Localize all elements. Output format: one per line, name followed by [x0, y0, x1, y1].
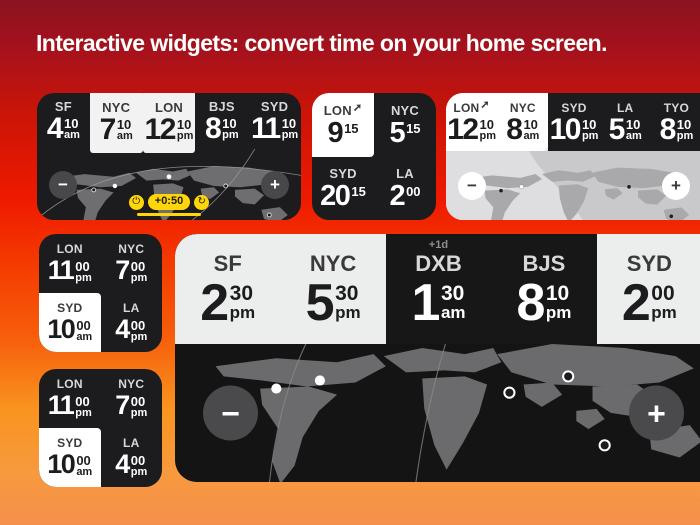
- meridiem-value: am: [523, 131, 539, 142]
- minute-value: 10: [546, 283, 569, 304]
- meridiem-value: pm: [546, 304, 572, 321]
- city-code: DXB: [415, 253, 461, 275]
- meridiem-value: pm: [582, 131, 599, 142]
- minute-value: 10: [582, 118, 596, 131]
- city-code-with-arrow: LON ➚: [453, 102, 489, 114]
- city-time: 11 10 pm: [251, 116, 298, 142]
- city-cell-tyo[interactable]: TYO 8 10 pm: [651, 93, 700, 151]
- hour-value: 5: [389, 121, 404, 146]
- city-code: LON: [324, 104, 352, 117]
- city-code: SYD: [57, 302, 82, 314]
- hour-value: 4: [47, 116, 62, 142]
- meridiem-value: pm: [177, 131, 194, 142]
- world-map-zone: − +: [175, 344, 700, 482]
- minute-value: 00: [406, 185, 420, 198]
- city-time: 5 15: [389, 121, 420, 146]
- city-cell-lon-selected[interactable]: LON 12 10 pm: [143, 93, 196, 153]
- hour-value: 8: [660, 117, 675, 143]
- hour-value: 4: [115, 453, 129, 476]
- hour-value: 8: [516, 281, 542, 326]
- hour-value: 7: [100, 117, 115, 143]
- hour-value: 5: [306, 281, 332, 326]
- city-code: SYD: [57, 437, 82, 449]
- hour-value: 2: [200, 281, 226, 326]
- hour-value: 2: [389, 184, 404, 209]
- city-cell-nyc-selected[interactable]: NYC 8 10 am: [497, 93, 548, 151]
- city-time: 7 00 pm: [115, 394, 147, 419]
- meridiem-value: pm: [75, 273, 92, 284]
- meridiem-value: am: [64, 130, 80, 141]
- world-map-zone: − + ⏻ +0:50 ↻: [37, 149, 301, 220]
- city-cell-syd[interactable]: SYD 2 00 pm: [597, 234, 700, 344]
- city-strip: SF 2 30 pm NYC 5 30 pm +1d DXB: [175, 234, 700, 344]
- meridiem-value: pm: [75, 408, 92, 419]
- city-code-with-arrow: LON ➚: [324, 104, 362, 117]
- meridiem-value: pm: [230, 304, 256, 321]
- widget-world-clock-wide-light[interactable]: LON ➚ 12 10 pm NYC 8 10 am SYD: [446, 93, 700, 220]
- city-strip: SF 4 10 am NYC 7 10 am LON 12: [37, 93, 301, 149]
- meridiem-value: pm: [677, 131, 694, 142]
- city-code: LON: [57, 378, 83, 390]
- city-code: LON: [453, 102, 479, 114]
- city-code: NYC: [118, 378, 144, 390]
- city-cell-syd[interactable]: SYD 20 15: [312, 157, 374, 221]
- time-offset-badge[interactable]: +0:50: [148, 194, 190, 210]
- city-code: NYC: [391, 104, 419, 117]
- city-code: BJS: [523, 253, 566, 275]
- city-time: 2 30 pm: [200, 281, 255, 326]
- city-time: 8 10 am: [506, 117, 539, 143]
- timer-control-row[interactable]: ⏻ +0:50 ↻: [37, 194, 301, 210]
- minute-value: 10: [677, 118, 691, 131]
- city-code: LA: [123, 302, 139, 314]
- minute-value: 00: [651, 283, 674, 304]
- city-time: 10 10 pm: [550, 117, 599, 143]
- widget-world-clock-wide-dark[interactable]: SF 4 10 am NYC 7 10 am LON 12: [37, 93, 301, 220]
- city-code: SYD: [329, 167, 356, 180]
- city-code: TYO: [664, 102, 689, 114]
- city-cell-syd[interactable]: SYD 11 10 pm: [248, 93, 301, 149]
- minute-value: 10: [480, 118, 494, 131]
- meridiem-value: pm: [335, 304, 361, 321]
- city-code: LA: [396, 167, 414, 180]
- hour-value: 10: [47, 318, 74, 341]
- widget-world-clock-large[interactable]: SF 2 30 pm NYC 5 30 pm +1d DXB: [175, 234, 700, 482]
- hour-value: 1: [412, 281, 438, 326]
- city-time: 12 10 pm: [447, 117, 496, 143]
- city-time: 10 00 am: [47, 318, 92, 343]
- widget-world-clock-small-dark[interactable]: LON ➚ 9 15 NYC 5 15 SYD 20 15 LA 2 00: [312, 93, 436, 220]
- city-time: 11 00 pm: [48, 394, 92, 419]
- city-cell-sf[interactable]: SF 4 10 am: [37, 93, 90, 149]
- city-code: LA: [123, 437, 139, 449]
- meridiem-value: pm: [651, 304, 677, 321]
- city-time: 1 30 am: [412, 281, 466, 326]
- city-cell-la[interactable]: LA 2 00: [374, 157, 436, 221]
- city-code: LON: [57, 243, 83, 255]
- city-code: LA: [617, 102, 633, 114]
- increment-button[interactable]: +: [662, 172, 690, 200]
- world-map-zone: − +: [446, 151, 700, 220]
- city-code: SYD: [561, 102, 586, 114]
- city-cell-bjs[interactable]: BJS 8 10 pm: [491, 234, 596, 344]
- city-time: 4 00 pm: [115, 453, 147, 478]
- city-time: 2 00: [389, 184, 420, 209]
- city-cell-syd-selected[interactable]: SYD 10 00 am: [39, 293, 101, 352]
- hour-value: 11: [48, 259, 74, 282]
- minute-value: 30: [441, 283, 464, 304]
- hour-value: 2: [622, 281, 648, 326]
- timer-progress-bar: [137, 213, 201, 216]
- city-time: 10 00 am: [47, 453, 92, 478]
- power-icon[interactable]: ⏻: [129, 195, 144, 210]
- hour-value: 5: [609, 117, 624, 143]
- city-time: 8 10 pm: [205, 116, 239, 142]
- hour-value: 11: [251, 116, 280, 142]
- city-time: 5 30 pm: [306, 281, 361, 326]
- city-cell-nyc[interactable]: NYC 7 00 pm: [101, 234, 163, 293]
- city-cell-dxb[interactable]: +1d DXB 1 30 am: [386, 234, 491, 344]
- hour-value: 10: [550, 117, 580, 143]
- city-cell-nyc[interactable]: NYC 5 30 pm: [280, 234, 385, 344]
- location-arrow-icon: ➚: [353, 103, 362, 114]
- meridiem-value: pm: [131, 273, 148, 284]
- reset-icon[interactable]: ↻: [194, 195, 209, 210]
- city-time: 11 00 pm: [48, 259, 92, 284]
- hour-value: 11: [48, 394, 74, 417]
- city-cell-nyc[interactable]: NYC 7 00 pm: [101, 369, 163, 428]
- city-time: 8 10 pm: [516, 281, 571, 326]
- meridiem-value: pm: [131, 408, 148, 419]
- city-cell-la[interactable]: LA 5 10 am: [600, 93, 651, 151]
- minute-value: 15: [406, 122, 420, 135]
- city-time: 7 10 am: [100, 117, 133, 143]
- city-time: 4 00 pm: [115, 318, 147, 343]
- city-time: 8 10 pm: [660, 117, 694, 143]
- city-cell-syd[interactable]: SYD 10 10 pm: [548, 93, 599, 151]
- widget-world-clock-small-stacked-bottom[interactable]: LON 11 00 pm NYC 7 00 pm SYD 10 00 am: [39, 369, 162, 487]
- city-cell-syd-selected[interactable]: SYD 10 00 am: [39, 428, 101, 487]
- city-time: 4 10 am: [47, 116, 80, 142]
- city-time: 12 10 pm: [145, 117, 194, 143]
- hour-value: 12: [145, 117, 175, 143]
- minute-value: 30: [335, 283, 358, 304]
- meridiem-value: am: [76, 332, 92, 343]
- meridiem-value: pm: [480, 131, 497, 142]
- city-code: NYC: [118, 243, 144, 255]
- city-code: SF: [214, 253, 242, 275]
- city-time: 20 15: [320, 184, 366, 209]
- minute-value: 30: [230, 283, 253, 304]
- city-cell-lon-selected[interactable]: LON ➚ 12 10 pm: [446, 93, 497, 151]
- city-code: NYC: [310, 253, 356, 275]
- meridiem-value: pm: [131, 467, 148, 478]
- city-cell-lon-selected[interactable]: LON ➚ 9 15: [312, 93, 374, 157]
- day-offset-badge: +1d: [429, 240, 448, 251]
- hour-value: 8: [506, 117, 521, 143]
- city-cell-lon[interactable]: LON 11 00 pm: [39, 369, 101, 428]
- minute-value: 15: [351, 185, 365, 198]
- city-cell-lon[interactable]: LON 11 00 pm: [39, 234, 101, 293]
- city-strip: LON ➚ 12 10 pm NYC 8 10 am SYD: [446, 93, 700, 151]
- city-cell-sf[interactable]: SF 2 30 pm: [175, 234, 280, 344]
- city-code: SYD: [627, 253, 672, 275]
- city-time: 5 10 am: [609, 117, 642, 143]
- city-code: NYC: [510, 102, 536, 114]
- minute-value: 15: [344, 122, 358, 135]
- meridiem-value: pm: [222, 130, 239, 141]
- meridiem-value: am: [441, 304, 466, 321]
- widget-world-clock-small-stacked-top[interactable]: LON 11 00 pm NYC 7 00 pm SYD 10 00 am: [39, 234, 162, 352]
- hour-value: 10: [47, 453, 74, 476]
- city-cell-la[interactable]: LA 4 00 pm: [101, 293, 163, 352]
- meridiem-value: am: [626, 131, 642, 142]
- meridiem-value: pm: [282, 130, 299, 141]
- hour-value: 8: [205, 116, 220, 142]
- city-time: 2 00 pm: [622, 281, 677, 326]
- hour-value: 20: [320, 184, 349, 209]
- minute-value: 10: [523, 118, 537, 131]
- hour-value: 7: [115, 394, 129, 417]
- city-time: 7 00 pm: [115, 259, 147, 284]
- hour-value: 12: [447, 117, 477, 143]
- page-title: Interactive widgets: convert time on you…: [36, 30, 676, 57]
- city-time: 9 15: [327, 121, 358, 146]
- location-arrow-icon: ➚: [480, 100, 489, 111]
- city-cell-la[interactable]: LA 4 00 pm: [101, 428, 163, 487]
- meridiem-value: pm: [131, 332, 148, 343]
- city-cell-bjs[interactable]: BJS 8 10 pm: [195, 93, 248, 149]
- meridiem-value: am: [76, 467, 92, 478]
- hour-value: 4: [115, 318, 129, 341]
- meridiem-value: am: [117, 131, 133, 142]
- decrement-button[interactable]: −: [458, 172, 486, 200]
- minute-value: 10: [626, 118, 640, 131]
- decrement-button[interactable]: −: [203, 386, 258, 441]
- hour-value: 9: [327, 121, 342, 146]
- city-cell-nyc[interactable]: NYC 5 15: [374, 93, 436, 157]
- city-cell-nyc-selected[interactable]: NYC 7 10 am: [90, 93, 143, 153]
- increment-button[interactable]: +: [629, 386, 684, 441]
- hour-value: 7: [115, 259, 129, 282]
